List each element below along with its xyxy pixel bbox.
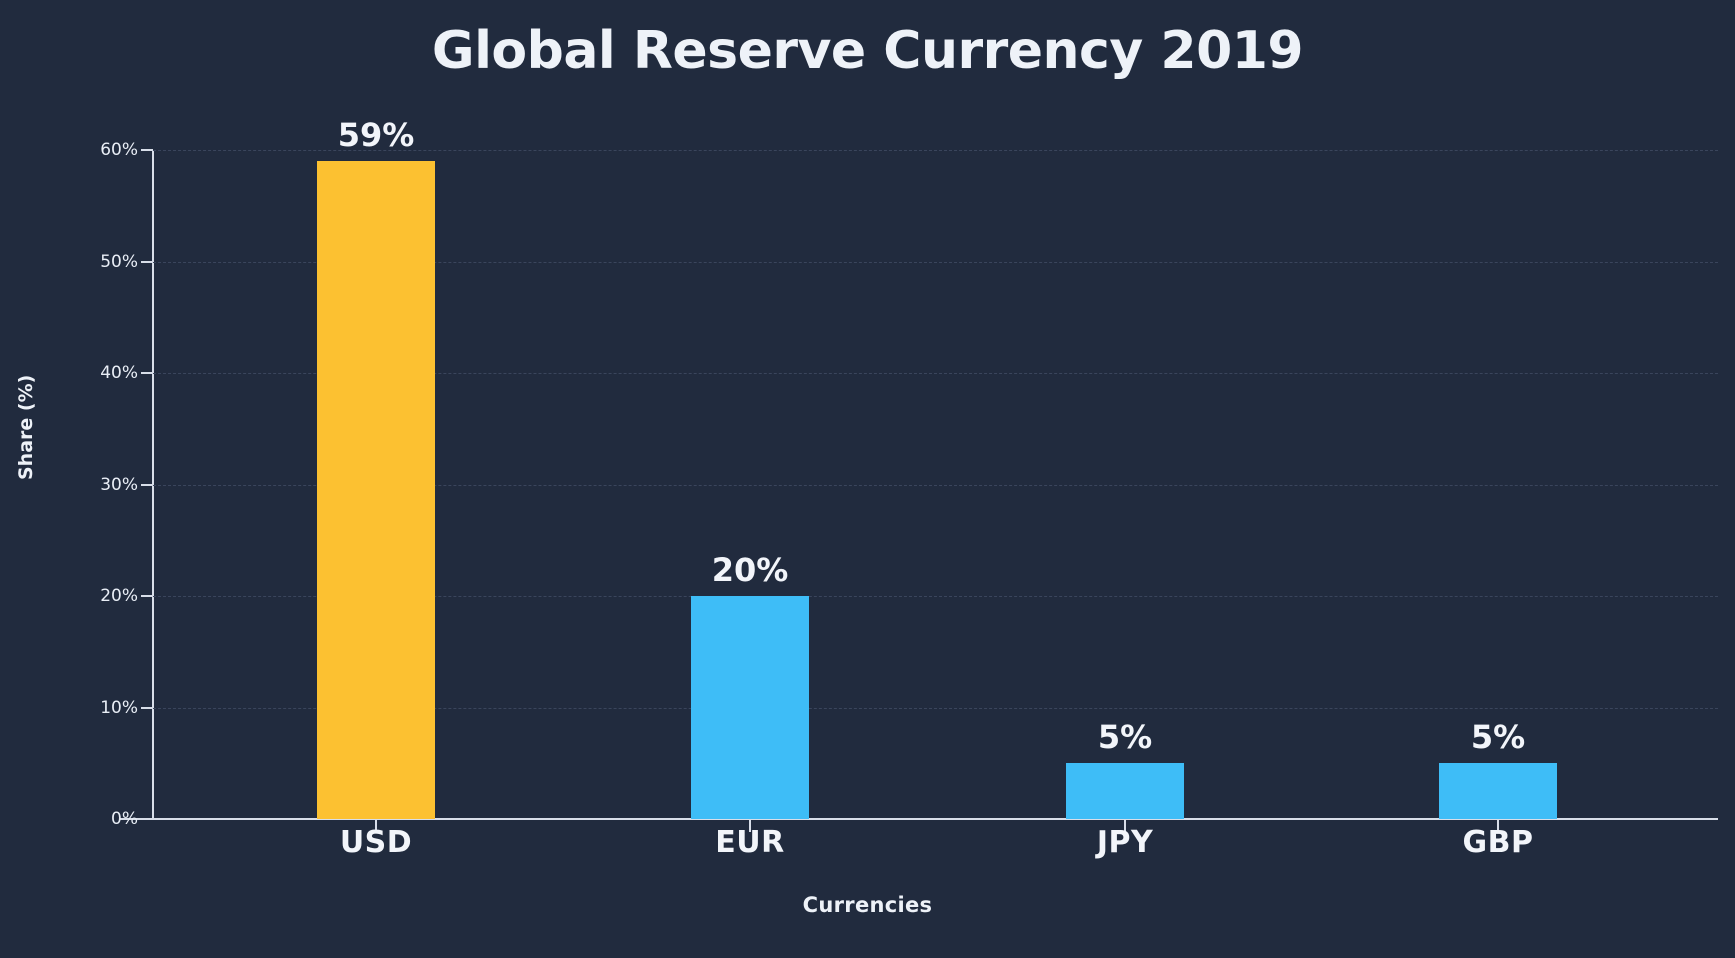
y-tick-mark: [141, 149, 153, 151]
bar-jpy[interactable]: [1066, 763, 1184, 819]
y-tick-mark: [141, 484, 153, 486]
y-tick-label: 60%: [100, 140, 138, 160]
x-axis-title: Currencies: [0, 893, 1735, 917]
x-category-label-jpy: JPY: [1025, 824, 1225, 862]
x-category-label-gbp: GBP: [1398, 824, 1598, 862]
bar-usd[interactable]: [317, 161, 435, 819]
y-tick-label: 50%: [100, 252, 138, 272]
y-tick-label: 30%: [100, 475, 138, 495]
bar-value-label-gbp: 5%: [1398, 718, 1598, 756]
y-tick-mark: [141, 707, 153, 709]
y-tick-mark: [141, 818, 153, 820]
y-tick-label: 20%: [100, 586, 138, 606]
bar-gbp[interactable]: [1439, 763, 1557, 819]
x-category-label-eur: EUR: [650, 824, 850, 862]
bar-value-label-eur: 20%: [650, 551, 850, 589]
x-category-label-usd: USD: [276, 824, 476, 862]
y-tick-mark: [141, 372, 153, 374]
y-tick-label: 10%: [100, 698, 138, 718]
y-tick-label: 0%: [111, 809, 138, 829]
y-tick-mark: [141, 261, 153, 263]
y-tick-label: 40%: [100, 363, 138, 383]
bar-eur[interactable]: [691, 596, 809, 819]
bar-value-label-usd: 59%: [276, 116, 476, 154]
y-axis-title: Share (%): [15, 375, 37, 480]
chart-title: Global Reserve Currency 2019: [0, 18, 1735, 84]
y-tick-mark: [141, 595, 153, 597]
bar-value-label-jpy: 5%: [1025, 718, 1225, 756]
